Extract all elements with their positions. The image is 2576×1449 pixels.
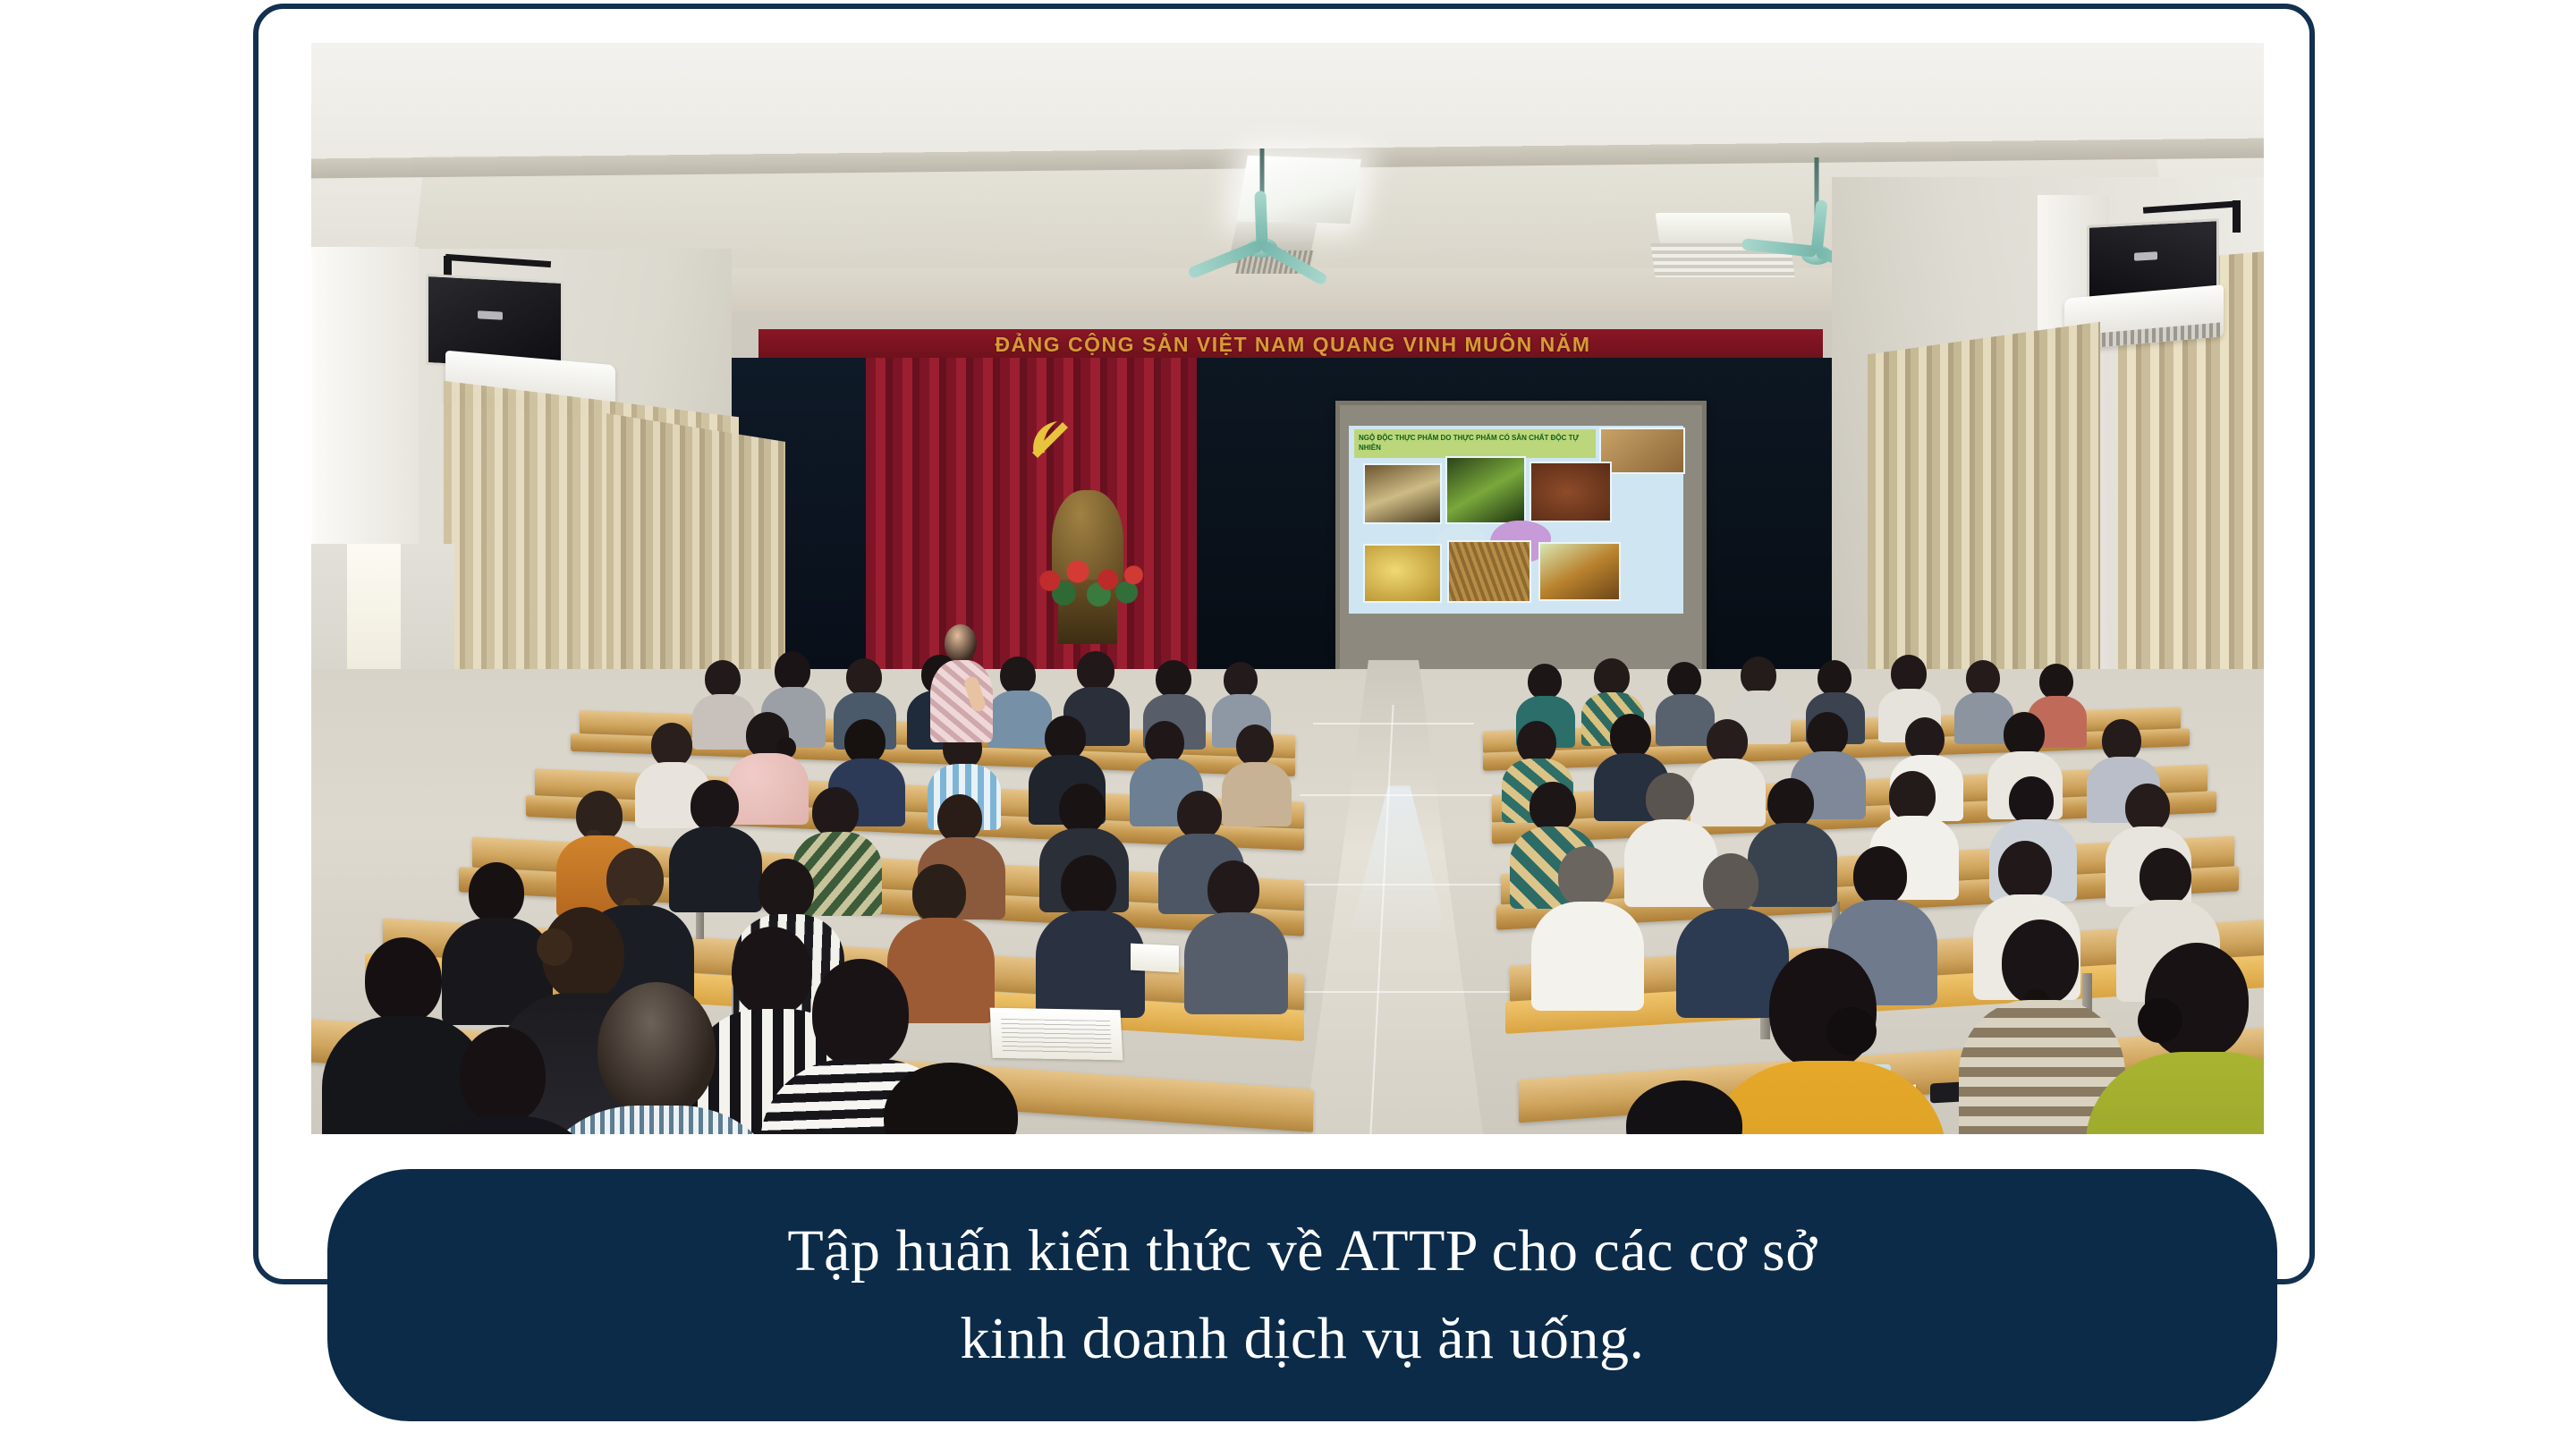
speaker-logo bbox=[2134, 251, 2157, 260]
slide-photo bbox=[1363, 544, 1442, 603]
ceiling-fan bbox=[1258, 148, 1267, 247]
flower-arrangement bbox=[1031, 551, 1148, 608]
ceiling-fan bbox=[1812, 157, 1821, 254]
slide-photo bbox=[1599, 428, 1685, 474]
ceiling-light-panel-far bbox=[1656, 213, 1794, 243]
slide-photo bbox=[1529, 462, 1612, 522]
projected-slide-title: NGỘ ĐỘC THỰC PHẨM DO THỰC PHẨM CÓ SẴN CH… bbox=[1354, 429, 1596, 458]
slide-photo bbox=[1447, 540, 1531, 603]
slide-canvas: ĐẢNG CỘNG SẢN VIỆT NAM QUANG VINH MUÔN N… bbox=[0, 0, 2576, 1449]
slogan-banner-text: ĐẢNG CỘNG SẢN VIỆT NAM QUANG VINH MUÔN N… bbox=[763, 331, 1823, 358]
caption-banner: Tập huấn kiến thức về ATTP cho các cơ sở… bbox=[327, 1169, 2277, 1421]
hammer-sickle-emblem bbox=[1027, 417, 1073, 458]
caption-line-2: kinh doanh dịch vụ ăn uống. bbox=[960, 1295, 1644, 1383]
speaker-logo bbox=[478, 310, 503, 319]
slide-photo bbox=[1363, 463, 1442, 524]
slide-photo bbox=[1538, 542, 1621, 601]
slide-photo bbox=[1445, 456, 1526, 524]
conference-photo: ĐẢNG CỘNG SẢN VIỆT NAM QUANG VINH MUÔN N… bbox=[311, 43, 2264, 1134]
caption-line-1: Tập huấn kiến thức về ATTP cho các cơ sở bbox=[787, 1207, 1817, 1295]
handout-paper bbox=[1131, 944, 1179, 973]
